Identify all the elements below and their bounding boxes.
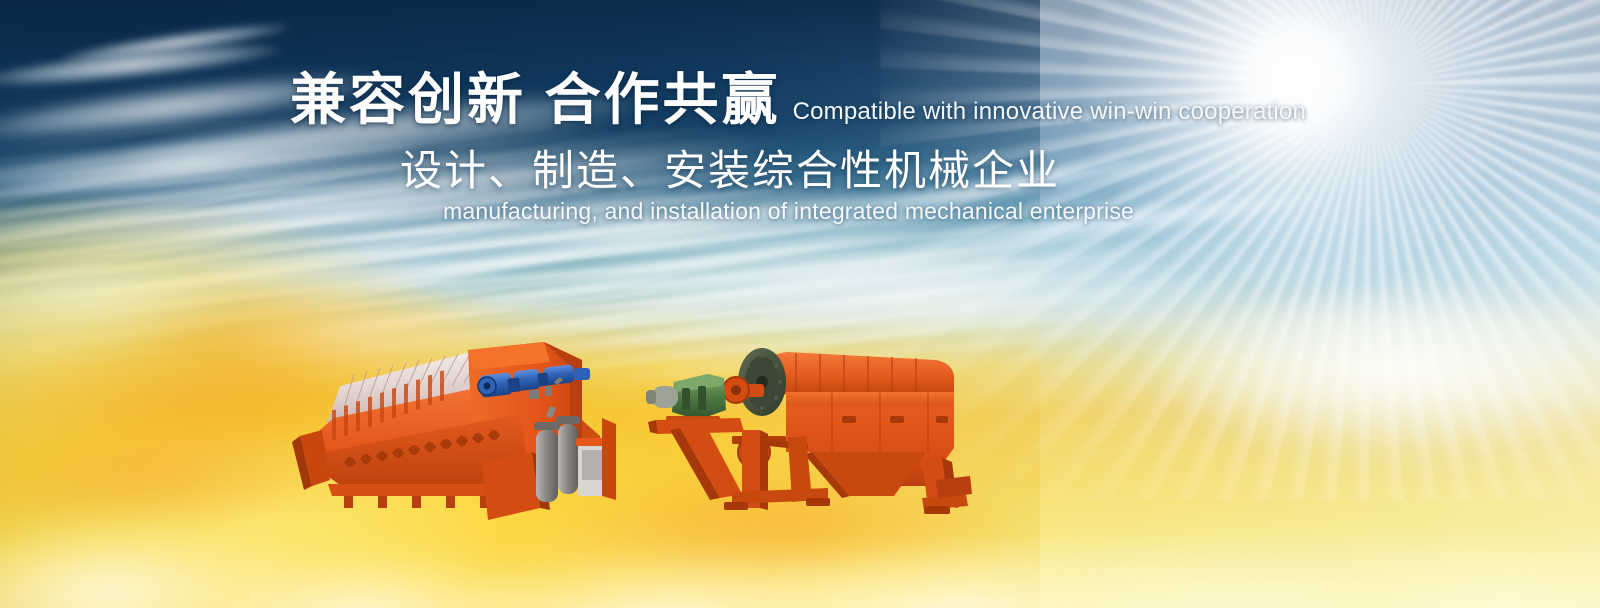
company-hero-banner: 兼容创新 合作共赢 Compatible with innovative win… xyxy=(0,0,1600,608)
headline-scrim xyxy=(180,30,1260,250)
magnetic-separator-machine-icon xyxy=(636,330,976,515)
ceramic-vacuum-filter-machine-icon xyxy=(282,312,627,537)
